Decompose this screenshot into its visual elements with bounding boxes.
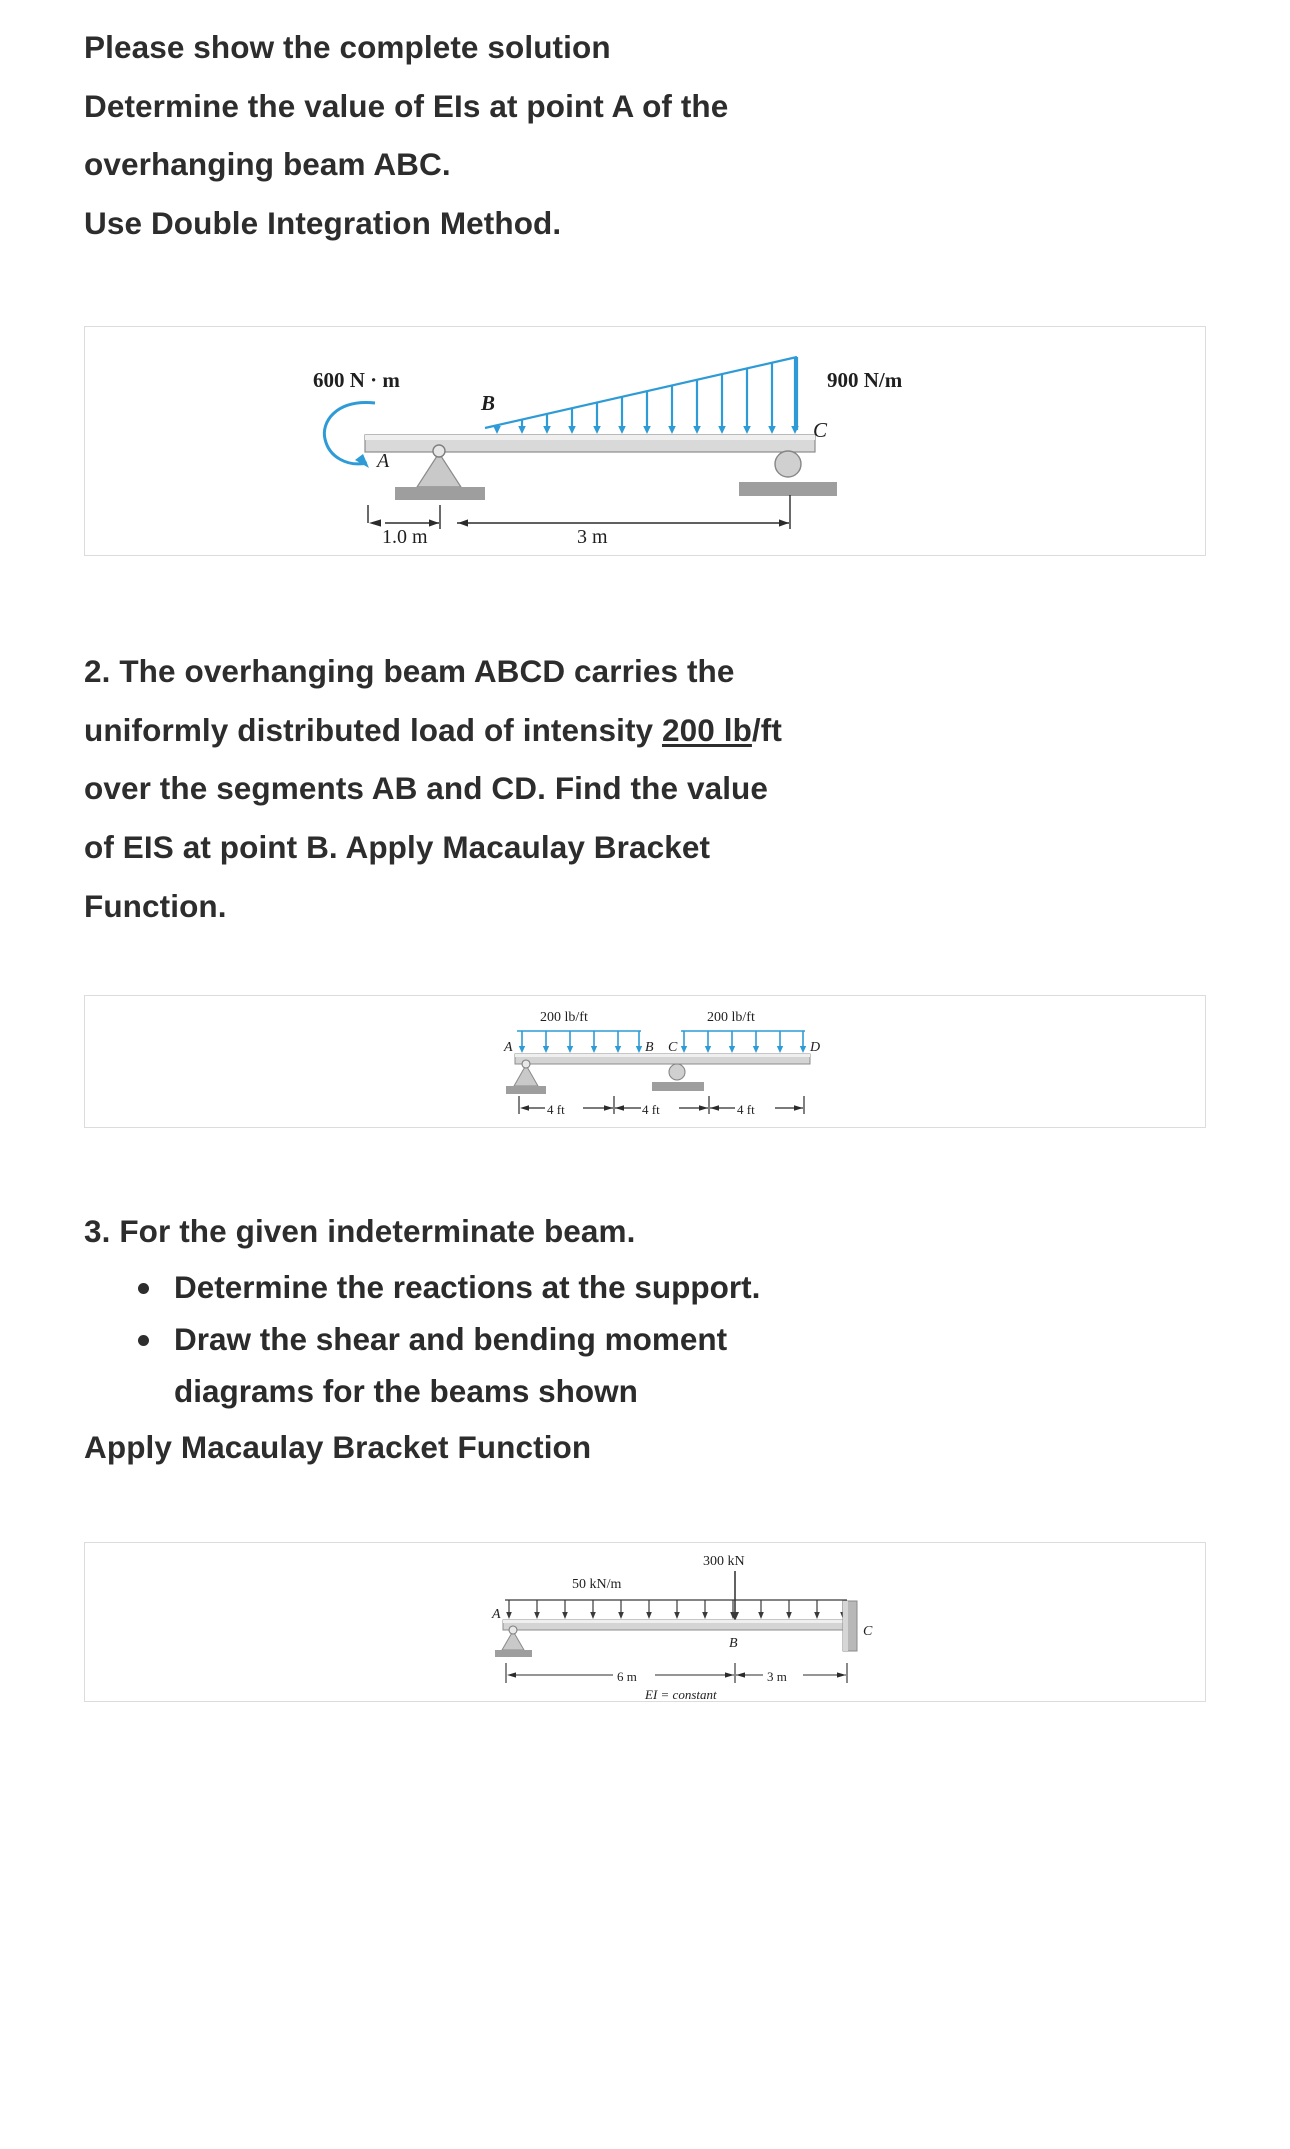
question-1-text: Please show the complete solution Determ… [84, 18, 1206, 252]
q2-line-2-a: uniformly distributed load of intensity [84, 712, 662, 748]
triangular-load-arrows [485, 357, 797, 430]
dimension-line-group [506, 1663, 847, 1683]
udl-right-arrowheads [681, 1046, 806, 1053]
fig1-dim-left-label: 1.0 m [382, 526, 428, 548]
fig2-load-label-left: 200 lb/ft [540, 1010, 588, 1025]
question-2-text: 2. The overhanging beam ABCD carries the… [84, 642, 1206, 935]
figure-2-svg: 200 lb/ft 200 lb/ft A B C D 4 ft 4 ft 4 … [85, 996, 1205, 1127]
udl-arrowheads [506, 1612, 846, 1619]
fig3-note-label: EI = constant [644, 1687, 717, 1701]
fig1-point-a-label: A [375, 450, 390, 472]
q2-line-3: over the segments AB and CD. Find the va… [84, 759, 1206, 818]
q2-line-2: uniformly distributed load of intensity … [84, 701, 1206, 760]
fig3-point-load-label: 300 kN [703, 1554, 745, 1569]
fig1-dim-right-label: 3 m [577, 526, 608, 548]
q3-bullet-1: Determine the reactions at the support. [130, 1261, 1206, 1313]
q1-line-4: Use Double Integration Method. [84, 194, 1206, 253]
question-3-text: 3. For the given indeterminate beam. [84, 1202, 1206, 1261]
figure-1-container: 600 N · m 900 N/m A B C 1.0 m 3 m [84, 326, 1206, 556]
fig3-udl-label: 50 kN/m [572, 1577, 622, 1592]
q3-bullet-2-line-1: Draw the shear and bending moment [174, 1321, 727, 1357]
figure-3-svg: 50 kN/m 300 kN A B C 6 m 3 m EI = consta… [85, 1543, 1205, 1701]
beam-highlight [503, 1620, 848, 1623]
beam-highlight [515, 1054, 810, 1057]
fig2-load-label-right: 200 lb/ft [707, 1010, 755, 1025]
fig3-dim-2-label: 3 m [767, 1669, 787, 1684]
q3-bullet-1-text: Determine the reactions at the support. [174, 1269, 760, 1305]
q2-line-1: 2. The overhanging beam ABCD carries the [84, 642, 1206, 701]
question-3-footer-text: Apply Macaulay Bracket Function [84, 1418, 1206, 1477]
pin-support-a [506, 1060, 546, 1094]
q3-bullet-2: Draw the shear and bending moment diagra… [130, 1313, 1206, 1418]
udl-right-arrows [681, 1031, 805, 1049]
figure-2-container: 200 lb/ft 200 lb/ft A B C D 4 ft 4 ft 4 … [84, 995, 1206, 1128]
fig3-point-a-label: A [491, 1607, 501, 1622]
fig3-point-c-label: C [863, 1624, 873, 1639]
q2-line-2-b: /ft [752, 712, 782, 748]
fig3-point-b-label: B [729, 1636, 738, 1651]
homework-page: Please show the complete solution Determ… [0, 0, 1290, 1702]
roller-support-c [739, 451, 837, 496]
q2-underlined-value: 200 lb [662, 712, 752, 748]
fig2-point-d-label: D [809, 1040, 820, 1055]
q3-bullet-2-line-2: diagrams for the beams shown [174, 1365, 1206, 1417]
q1-line-1: Please show the complete solution [84, 18, 1206, 77]
q3-line-2: Apply Macaulay Bracket Function [84, 1418, 1206, 1477]
question-3-bullet-list: Determine the reactions at the support. … [84, 1261, 1206, 1418]
q1-line-2: Determine the value of EIs at point A of… [84, 77, 1206, 136]
roller-support-c [652, 1064, 704, 1091]
beam-highlight [365, 435, 815, 440]
q2-line-4: of EIS at point B. Apply Macaulay Bracke… [84, 818, 1206, 877]
fig2-point-c-label: C [668, 1040, 678, 1055]
fig1-point-c-label: C [813, 418, 828, 442]
pin-support-a [495, 1626, 532, 1657]
figure-3-container: 50 kN/m 300 kN A B C 6 m 3 m EI = consta… [84, 1542, 1206, 1702]
q1-line-3: overhanging beam ABC. [84, 135, 1206, 194]
fig2-dim-1-label: 4 ft [547, 1102, 565, 1117]
figure-1-svg: 600 N · m 900 N/m A B C 1.0 m 3 m [85, 327, 1205, 555]
fig2-dim-2-label: 4 ft [642, 1102, 660, 1117]
fig3-dim-1-label: 6 m [617, 1669, 637, 1684]
fixed-support-c [843, 1601, 857, 1651]
fig2-point-a-label: A [503, 1040, 513, 1055]
udl-left-arrows [517, 1031, 641, 1049]
triangular-load-arrowheads [493, 426, 799, 434]
point-load-at-b [731, 1571, 739, 1621]
pin-support-b [395, 445, 485, 500]
fig2-dim-3-label: 4 ft [737, 1102, 755, 1117]
fig1-moment-label: 600 N · m [313, 368, 400, 392]
fig1-load-label: 900 N/m [827, 368, 903, 392]
q3-line-1: 3. For the given indeterminate beam. [84, 1202, 1206, 1261]
fig2-point-b-label: B [645, 1040, 654, 1055]
udl-left-arrowheads [519, 1046, 642, 1053]
fig1-point-b-label: B [480, 391, 495, 415]
q2-line-5: Function. [84, 877, 1206, 936]
